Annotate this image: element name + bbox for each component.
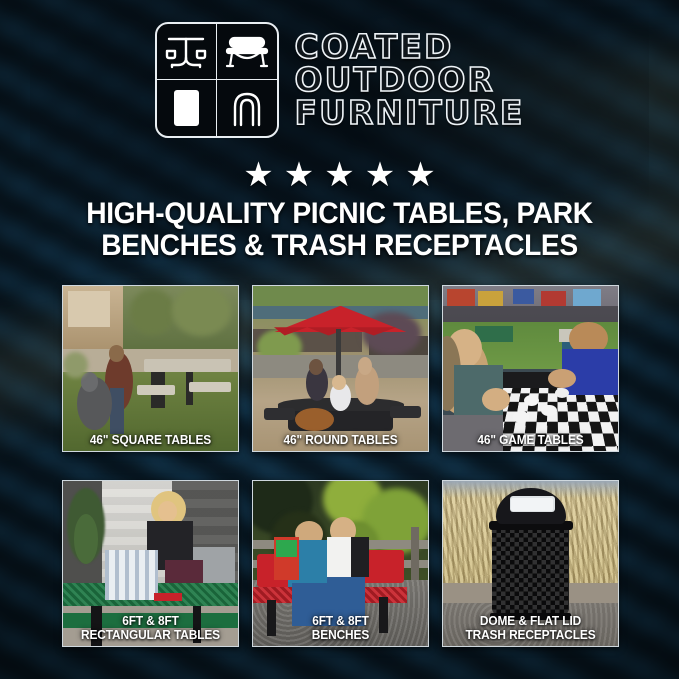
product-caption: 46" ROUND TABLES (257, 434, 423, 448)
logo-icon-grid (155, 22, 279, 138)
wordmark-line-3: FURNITURE (295, 97, 525, 129)
product-caption: 6FT & 8FT BENCHES (257, 615, 423, 642)
headline-line-1: HIGH-QUALITY PICNIC TABLES, PARK (20, 198, 658, 230)
product-caption: 6FT & 8FT RECTANGULAR TABLES (67, 615, 233, 642)
picnic-table-icon (157, 24, 217, 80)
product-tile-benches[interactable]: 6FT & 8FT BENCHES (252, 480, 429, 647)
page-title: HIGH-QUALITY PICNIC TABLES, PARK BENCHES… (20, 198, 658, 263)
caption-line-1: 46" ROUND TABLES (257, 434, 423, 448)
brand-wordmark: COATED OUTDOOR FURNITURE (295, 31, 525, 128)
product-caption: DOME & FLAT LID TRASH RECEPTACLES (447, 615, 613, 642)
headline-line-2: BENCHES & TRASH RECEPTACLES (20, 230, 658, 262)
bench-icon (217, 24, 277, 80)
caption-line-2: TRASH RECEPTACLES (447, 629, 613, 643)
bike-rack-icon (217, 80, 277, 136)
product-photo-square-tables (63, 286, 238, 451)
product-grid: 46" SQUARE TABLES (62, 285, 617, 647)
star-icon: ★ (284, 158, 314, 192)
product-tile-game-tables[interactable]: 46" GAME TABLES (442, 285, 619, 452)
product-tile-round-tables[interactable]: 46" ROUND TABLES (252, 285, 429, 452)
star-icon: ★ (365, 158, 395, 192)
product-caption: 46" SQUARE TABLES (67, 434, 233, 448)
star-icon: ★ (405, 158, 435, 192)
product-tile-rectangular-tables[interactable]: 6FT & 8FT RECTANGULAR TABLES (62, 480, 239, 647)
product-tile-square-tables[interactable]: 46" SQUARE TABLES (62, 285, 239, 452)
product-photo-round-tables (253, 286, 428, 451)
brand-logo: COATED OUTDOOR FURNITURE (0, 22, 679, 138)
star-icon: ★ (324, 158, 354, 192)
product-tile-trash-receptacles[interactable]: DOME & FLAT LID TRASH RECEPTACLES (442, 480, 619, 647)
caption-line-1: 6FT & 8FT (257, 615, 423, 629)
wordmark-line-1: COATED (295, 31, 525, 63)
product-photo-game-tables (443, 286, 618, 451)
caption-line-2: RECTANGULAR TABLES (67, 629, 233, 643)
star-rating: ★ ★ ★ ★ ★ (0, 158, 679, 192)
product-caption: 46" GAME TABLES (447, 434, 613, 448)
caption-line-1: 6FT & 8FT (67, 615, 233, 629)
trash-receptacle-icon (157, 80, 217, 136)
caption-line-1: 46" GAME TABLES (447, 434, 613, 448)
star-icon: ★ (243, 158, 273, 192)
caption-line-1: 46" SQUARE TABLES (67, 434, 233, 448)
caption-line-1: DOME & FLAT LID (447, 615, 613, 629)
promo-banner: COATED OUTDOOR FURNITURE ★ ★ ★ ★ ★ HIGH-… (0, 0, 679, 679)
caption-line-2: BENCHES (257, 629, 423, 643)
wordmark-line-2: OUTDOOR (295, 64, 525, 96)
